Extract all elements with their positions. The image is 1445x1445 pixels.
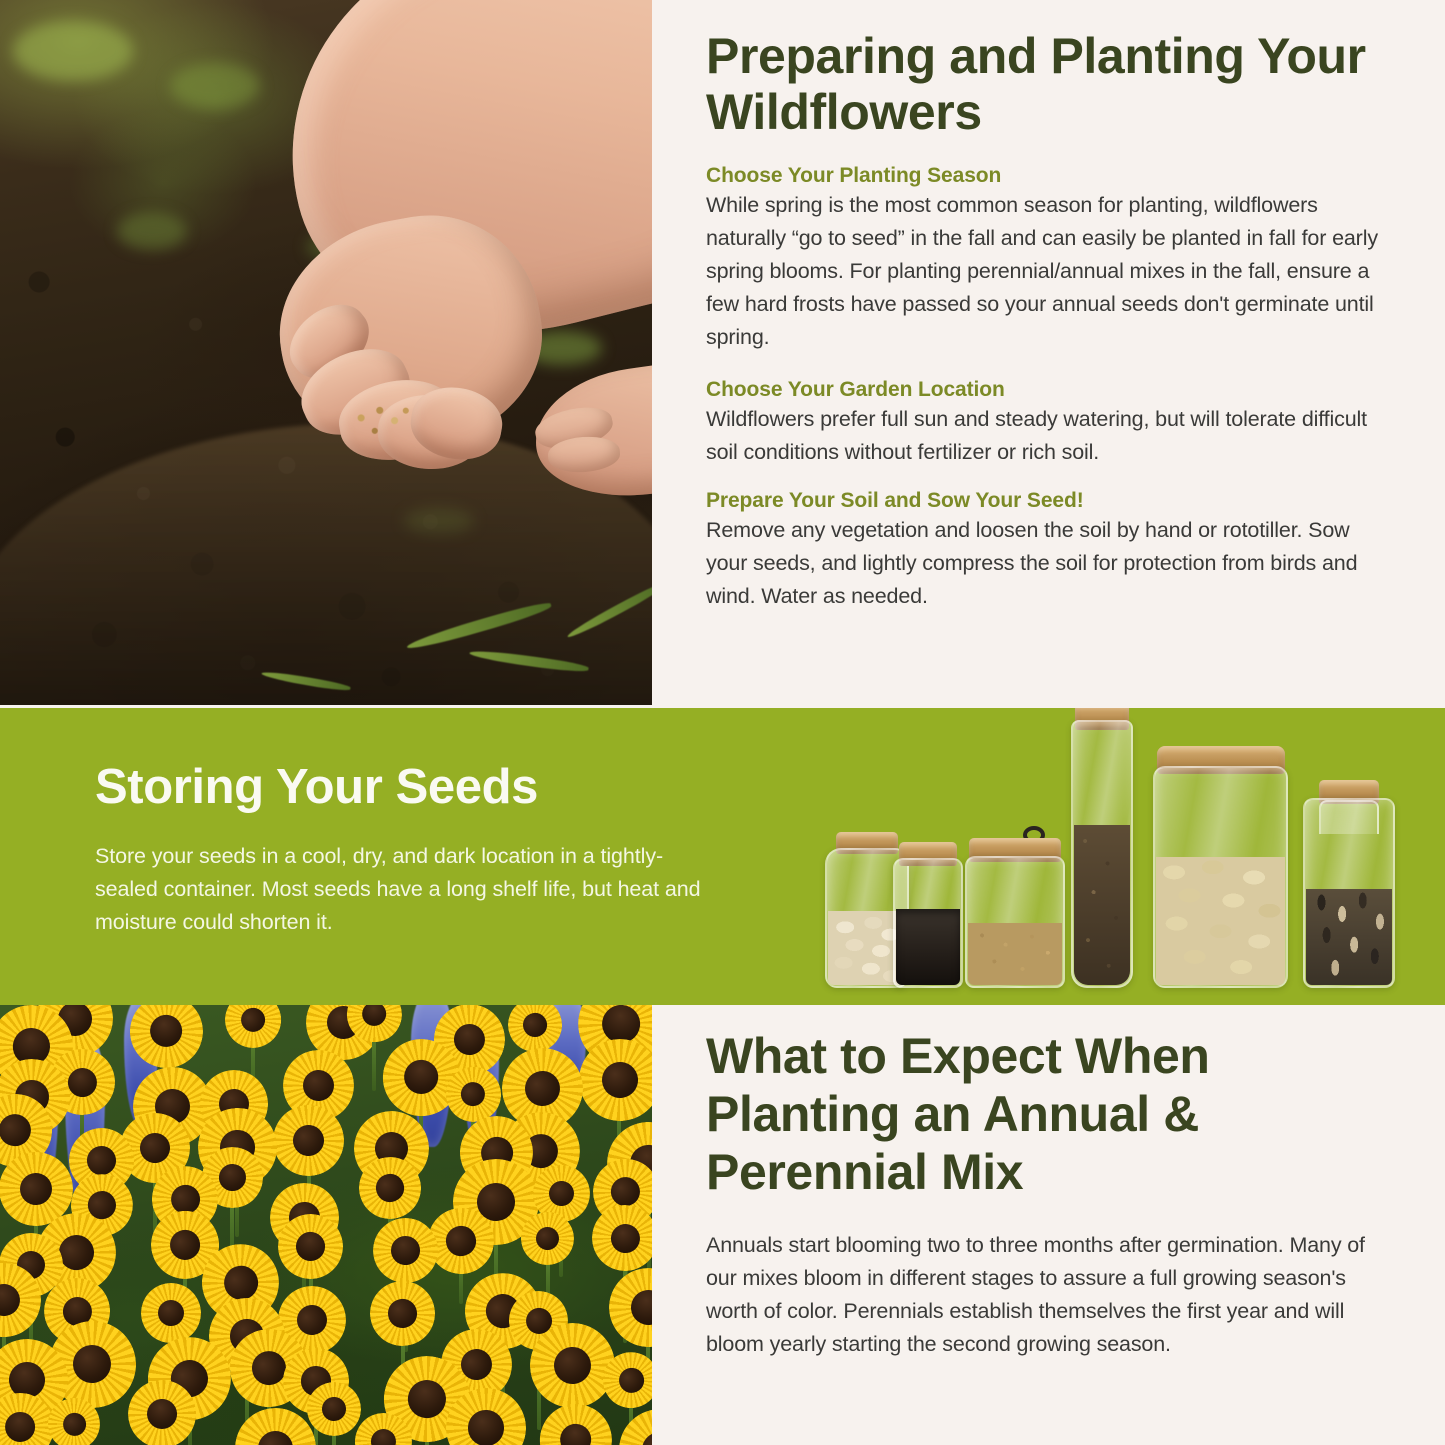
subheading-planting-season: Choose Your Planting Season xyxy=(706,164,1378,188)
seed-fill xyxy=(968,923,1062,985)
seed-fill xyxy=(1156,857,1285,985)
seed-fill xyxy=(1074,825,1130,985)
seed-fill xyxy=(896,909,960,985)
wildflower-field-photo xyxy=(0,1005,652,1445)
section-storing-your-seeds: Storing Your Seeds Store your seeds in a… xyxy=(0,708,1445,1005)
soil-planting-photo xyxy=(0,0,652,705)
storing-paragraph: Store your seeds in a cool, dry, and dar… xyxy=(95,840,715,939)
seed-jars-photo xyxy=(825,718,1425,998)
paragraph-planting-season: While spring is the most common season f… xyxy=(706,189,1378,354)
flower-center xyxy=(468,1409,505,1445)
black-eyed-susan-flower xyxy=(444,1386,528,1445)
section-preparing-planting: Preparing and Planting Your Wildflowers … xyxy=(0,0,1445,708)
background-foliage-blur xyxy=(170,63,260,109)
expect-text-column: What to Expect When Planting an Annual &… xyxy=(706,1027,1378,1361)
expect-title: What to Expect When Planting an Annual &… xyxy=(706,1027,1378,1201)
seed-fill xyxy=(1306,889,1392,985)
sunflower-seed-jar xyxy=(1303,798,1395,988)
paragraph-prepare-soil: Remove any vegetation and loosen the soi… xyxy=(706,514,1378,613)
black-eyed-susan-flower xyxy=(517,1208,578,1269)
page-title: Preparing and Planting Your Wildflowers xyxy=(706,28,1378,140)
preparing-text-column: Preparing and Planting Your Wildflowers … xyxy=(706,28,1378,613)
black-eyed-susan-flower xyxy=(305,1380,363,1438)
section-what-to-expect: What to Expect When Planting an Annual &… xyxy=(0,1005,1445,1445)
black-eyed-susan-flower xyxy=(364,1275,441,1352)
black-eyed-susan-flower xyxy=(367,1213,443,1289)
large-pumpkin-seed-jar xyxy=(1153,766,1288,988)
seeds-in-hand xyxy=(342,390,426,450)
tan-grain-jar xyxy=(965,856,1065,988)
tall-tube-jar xyxy=(1071,720,1133,988)
black-seed-jar xyxy=(893,858,963,988)
background-foliage-blur xyxy=(117,212,187,250)
background-foliage-blur xyxy=(13,21,133,81)
storing-title: Storing Your Seeds xyxy=(95,760,715,814)
expect-paragraph: Annuals start blooming two to three mont… xyxy=(706,1229,1378,1361)
storing-text-column: Storing Your Seeds Store your seeds in a… xyxy=(95,760,715,939)
subheading-garden-location: Choose Your Garden Location xyxy=(706,378,1378,402)
subheading-prepare-soil: Prepare Your Soil and Sow Your Seed! xyxy=(706,489,1378,513)
paragraph-garden-location: Wildflowers prefer full sun and steady w… xyxy=(706,403,1378,469)
infographic-page: Preparing and Planting Your Wildflowers … xyxy=(0,0,1445,1445)
